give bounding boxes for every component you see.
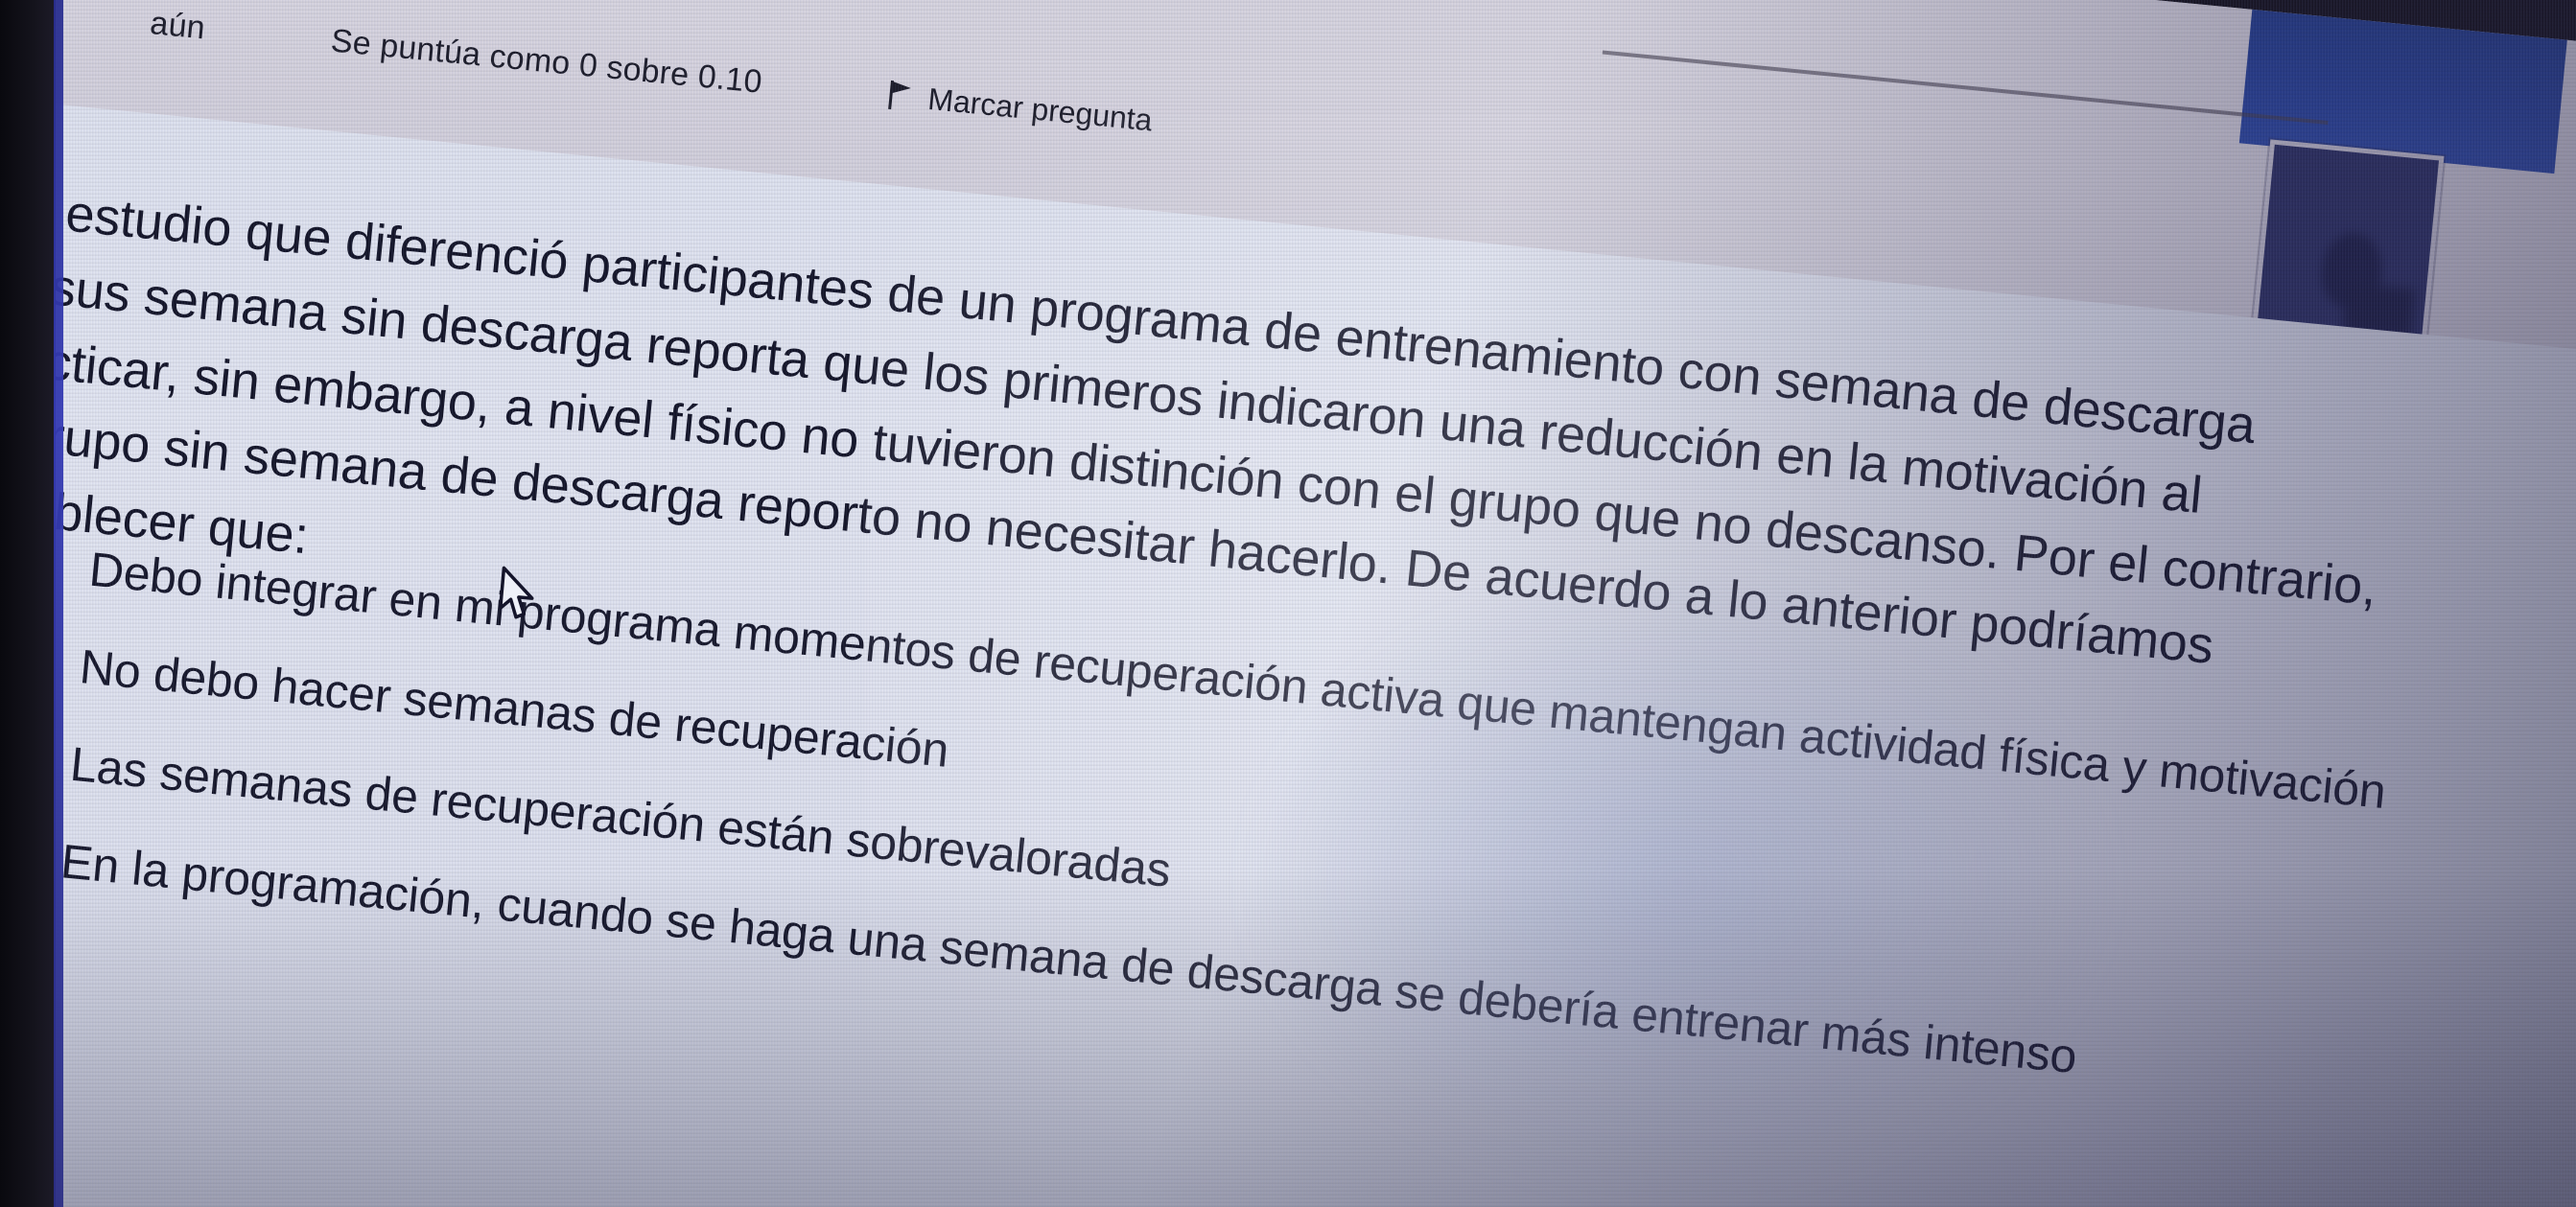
question-state-text: aún — [149, 5, 207, 47]
flag-question-button[interactable]: Marcar pregunta — [886, 77, 1154, 138]
question-grade-text: Se puntúa como 0 sobre 0.10 — [329, 22, 763, 101]
photographed-screen: aún Se puntúa como 0 sobre 0.10 Marcar p… — [0, 0, 2576, 1207]
flag-question-label: Marcar pregunta — [926, 81, 1154, 138]
monitor-bezel — [0, 0, 56, 1207]
screen-surface: aún Se puntúa como 0 sobre 0.10 Marcar p… — [0, 0, 2576, 1207]
flag-icon — [886, 80, 914, 112]
header-divider — [1603, 51, 2329, 125]
bezel-edge-highlight — [54, 0, 63, 1207]
